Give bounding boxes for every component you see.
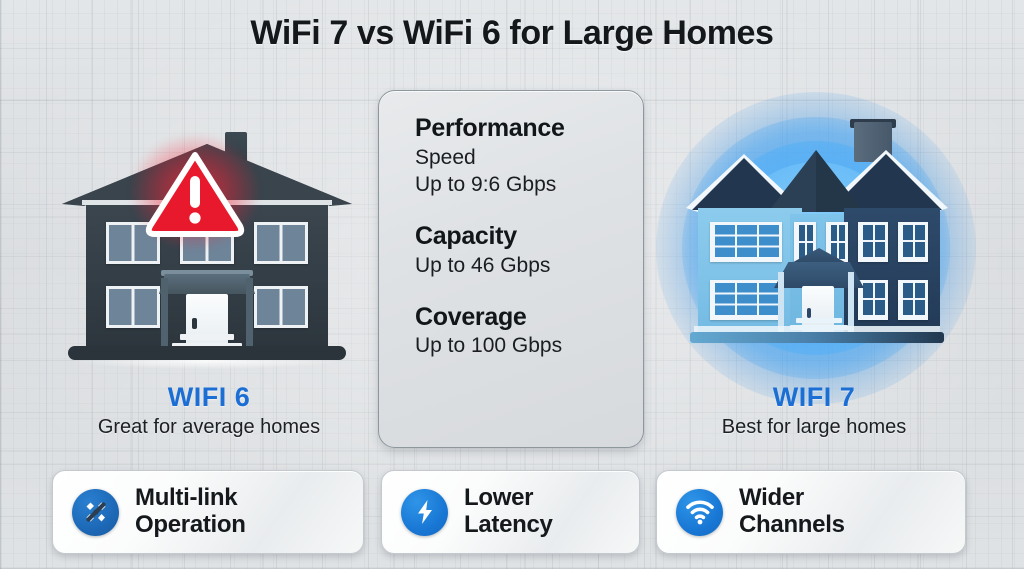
spec-group-coverage: Coverage Up to 100 Gbps	[415, 302, 643, 360]
window	[898, 222, 928, 262]
window	[858, 222, 888, 262]
wifi6-caption: WIFI 6 Great for average homes	[49, 382, 369, 439]
wifi6-title: WIFI 6	[49, 382, 369, 413]
wifi7-subtitle: Best for large homes	[654, 416, 974, 439]
lightning-bolt-icon	[401, 489, 448, 536]
window	[106, 286, 160, 328]
door-knob	[192, 318, 197, 329]
spec-group-capacity: Capacity Up to 46 Gbps	[415, 221, 643, 279]
house-wifi7	[686, 122, 948, 370]
wifi-signal-icon	[676, 489, 723, 536]
porch-pillar	[848, 272, 854, 332]
foundation	[68, 346, 346, 360]
spec-value: Up to 100 Gbps	[415, 332, 643, 360]
spec-heading: Coverage	[415, 302, 643, 333]
porch-column	[246, 278, 253, 350]
wifi6-subtitle: Great for average homes	[49, 416, 369, 439]
window	[710, 222, 782, 262]
window	[254, 222, 308, 264]
step	[180, 334, 234, 340]
porch-awning	[159, 274, 255, 294]
page-title: WiFi 7 vs WiFi 6 for Large Homes	[0, 14, 1024, 53]
window	[898, 280, 928, 320]
feature-card-multi-link[interactable]: Multi-linkOperation	[52, 470, 364, 554]
spec-value: Up to 46 Gbps	[415, 252, 643, 280]
spec-heading: Performance	[415, 113, 643, 144]
spec-value: Up to 9:6 Gbps	[415, 171, 643, 199]
window	[710, 280, 782, 320]
feature-label: LowerLatency	[464, 485, 553, 539]
spec-group-performance: Performance Speed Up to 9:6 Gbps	[415, 113, 643, 199]
door-knob	[807, 308, 811, 318]
step	[796, 318, 842, 323]
porch-column	[161, 278, 168, 350]
spec-label: Speed	[415, 144, 643, 172]
feature-label: WiderChannels	[739, 485, 845, 539]
multi-link-icon	[72, 489, 119, 536]
wifi7-caption: WIFI 7 Best for large homes	[654, 382, 974, 439]
infographic-canvas: WiFi 7 vs WiFi 6 for Large Homes	[0, 0, 1024, 569]
feature-card-wider-channels[interactable]: WiderChannels	[656, 470, 966, 554]
foundation	[690, 332, 944, 343]
warning-triangle-icon	[143, 146, 247, 238]
feature-label: Multi-linkOperation	[135, 485, 246, 539]
feature-card-lower-latency[interactable]: LowerLatency	[381, 470, 640, 554]
spec-card: Performance Speed Up to 9:6 Gbps Capacit…	[378, 90, 644, 448]
wifi7-title: WIFI 7	[654, 382, 974, 413]
warning-badge	[143, 146, 247, 238]
ground-shadow	[76, 360, 338, 369]
porch-pillar	[778, 272, 784, 332]
spec-heading: Capacity	[415, 221, 643, 252]
window	[254, 286, 308, 328]
